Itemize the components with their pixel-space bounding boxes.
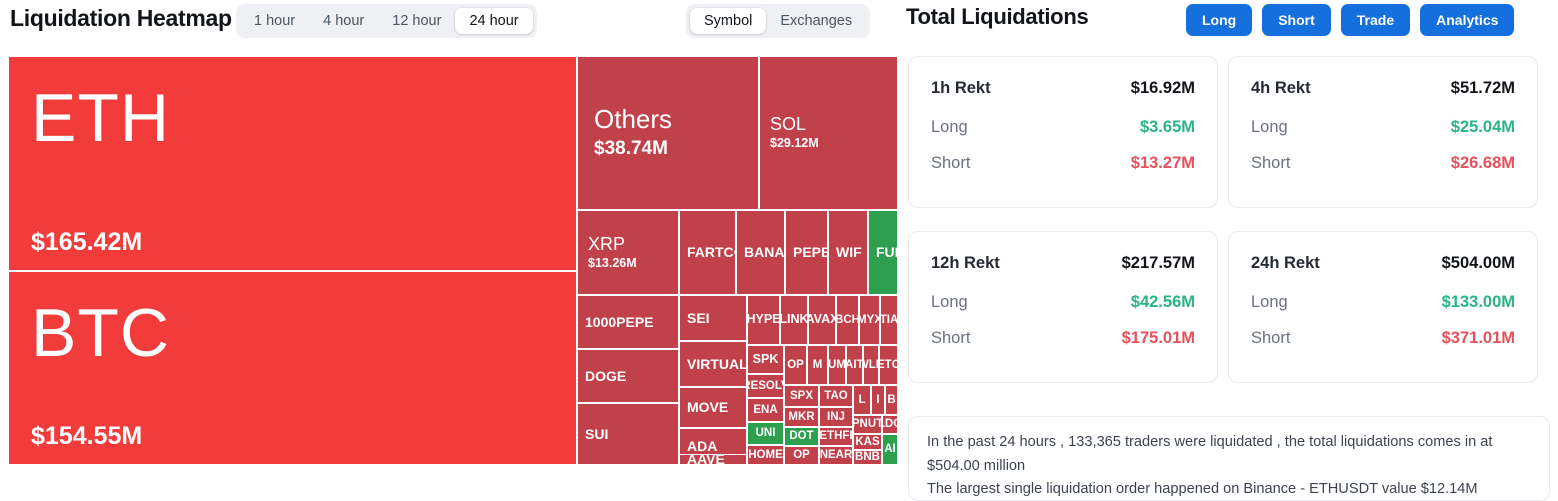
rekt-card-4h: 4h Rekt$51.72MLong$25.04MShort$26.68M	[1228, 56, 1538, 208]
treemap-tile-fartcoin[interactable]: FARTCOIN	[679, 210, 736, 295]
treemap-tile-move[interactable]: MOVE	[679, 387, 747, 428]
treemap-tile-kaito[interactable]: KAITO	[846, 345, 863, 385]
treemap-tile-etc[interactable]: ETC	[879, 345, 898, 385]
treemap-tile-uni[interactable]: UNI	[747, 422, 784, 445]
card-data-row: Short$26.68M	[1251, 154, 1515, 173]
tile-symbol: PUMP	[828, 359, 846, 371]
treemap-tile-bnb[interactable]: BNB	[853, 450, 882, 465]
card-row-label: Short	[931, 329, 970, 348]
card-header-row: 24h Rekt$504.00M	[1251, 254, 1515, 273]
treemap-tile-b[interactable]: B	[885, 385, 898, 415]
treemap-tile-sei[interactable]: SEI	[679, 295, 747, 341]
tile-value: $154.55M	[31, 423, 554, 451]
tile-symbol: SOL	[770, 115, 887, 134]
card-row-value: $26.68M	[1451, 154, 1515, 173]
treemap-tile-others[interactable]: Others$38.74M	[577, 56, 759, 210]
treemap-tile-ldo[interactable]: LDO	[882, 415, 898, 434]
view-toggle-exchanges[interactable]: Exchanges	[766, 8, 866, 34]
treemap-tile-near[interactable]: NEAR	[819, 446, 853, 465]
treemap-tile-xrp[interactable]: XRP$13.26M	[577, 210, 679, 295]
tile-symbol: AAVE	[687, 454, 725, 465]
card-row-value: $371.01M	[1442, 329, 1515, 348]
tile-symbol: WLD	[863, 359, 879, 371]
treemap-tile-1000pepe[interactable]: 1000PEPE	[577, 295, 679, 349]
treemap-tile-bananas31[interactable]: BANANAS31	[736, 210, 785, 295]
tile-value: $29.12M	[770, 137, 887, 151]
tile-symbol: FARTCOIN	[687, 245, 736, 260]
treemap-tile-spk[interactable]: SPK	[747, 345, 784, 374]
treemap-tile-home[interactable]: HOME	[747, 445, 784, 465]
treemap-tile-sui[interactable]: SUI	[577, 403, 679, 465]
tile-symbol: PNUT	[853, 418, 882, 430]
tile-symbol: AVAX	[808, 313, 836, 326]
card-row-label: 12h Rekt	[931, 254, 1000, 273]
tile-symbol: I	[876, 394, 879, 406]
tile-symbol: SEI	[687, 311, 710, 326]
card-row-label: Long	[931, 118, 968, 137]
rekt-card-12h: 12h Rekt$217.57MLong$42.56MShort$175.01M	[908, 231, 1218, 383]
treemap-tile-resolv[interactable]: RESOLV	[747, 374, 784, 398]
tile-symbol: KAS	[855, 436, 879, 448]
tile-symbol: MYX	[859, 314, 880, 326]
tile-symbol: RESOLV	[747, 380, 784, 392]
tile-symbol: BNB	[855, 451, 880, 463]
treemap-tile-bch[interactable]: BCH	[836, 295, 859, 345]
tile-symbol: MOVE	[687, 400, 728, 415]
card-data-row: Short$175.01M	[931, 329, 1195, 348]
tile-symbol: L	[858, 394, 865, 406]
tile-symbol: NEAR	[820, 449, 853, 461]
tile-symbol: MKR	[788, 411, 814, 423]
treemap-tile-op[interactable]: OP	[784, 446, 819, 465]
treemap-tile-pump[interactable]: PUMP	[828, 345, 846, 385]
tile-symbol: TAO	[824, 390, 847, 402]
card-row-value: $504.00M	[1442, 254, 1515, 273]
card-data-row: Long$133.00M	[1251, 293, 1515, 312]
summary-panel: In the past 24 hours , 133,365 traders w…	[908, 416, 1550, 501]
page-title: Liquidation Heatmap	[10, 5, 232, 32]
action-button-short[interactable]: Short	[1262, 4, 1331, 36]
card-row-value: $175.01M	[1122, 329, 1195, 348]
tile-value: $38.74M	[594, 139, 742, 160]
treemap-tile-ena[interactable]: ENA	[747, 398, 784, 422]
treemap-tile-aave[interactable]: AAVE	[679, 454, 747, 465]
view-toggle-symbol[interactable]: Symbol	[690, 8, 766, 34]
tile-symbol: PEPE	[793, 245, 828, 260]
card-row-label: Long	[931, 293, 968, 312]
card-row-label: 1h Rekt	[931, 79, 991, 98]
treemap-tile-wif[interactable]: WIF	[828, 210, 868, 295]
tile-symbol: ETHFI	[819, 430, 852, 442]
action-button-long[interactable]: Long	[1186, 4, 1252, 36]
treemap-tile-fun[interactable]: FUN	[868, 210, 898, 295]
card-row-value: $133.00M	[1442, 293, 1515, 312]
tile-symbol: AI	[884, 443, 896, 455]
tile-symbol: SPX	[790, 390, 813, 402]
treemap-tile-mkr[interactable]: MKR	[784, 407, 819, 427]
card-data-row: Long$3.65M	[931, 118, 1195, 137]
tile-symbol: WIF	[836, 245, 862, 260]
tile-symbol: HYPE	[747, 313, 780, 326]
liquidation-heatmap-page: Liquidation Heatmap 1 hour4 hour12 hour2…	[0, 0, 1558, 501]
tile-symbol: BTC	[31, 298, 554, 369]
tile-symbol: LINK	[780, 313, 808, 326]
card-data-row: Long$42.56M	[931, 293, 1195, 312]
tile-symbol: HOME	[748, 449, 783, 461]
card-row-label: 4h Rekt	[1251, 79, 1311, 98]
app-header: Liquidation Heatmap 1 hour4 hour12 hour2…	[0, 0, 1558, 47]
tile-value: $13.26M	[588, 257, 668, 271]
card-data-row: Short$371.01M	[1251, 329, 1515, 348]
tile-symbol: B	[887, 394, 895, 406]
card-row-label: Short	[1251, 154, 1290, 173]
tile-symbol: OP	[793, 449, 810, 461]
treemap-tile-btc[interactable]: BTC$154.55M	[8, 271, 577, 465]
tile-symbol: ADA	[687, 439, 717, 454]
card-row-label: Short	[1251, 329, 1290, 348]
card-header-row: 12h Rekt$217.57M	[931, 254, 1195, 273]
card-row-value: $13.27M	[1131, 154, 1195, 173]
treemap-tile-virtual[interactable]: VIRTUAL	[679, 341, 747, 387]
tile-symbol: DOT	[789, 430, 813, 442]
treemap-tile-hype[interactable]: HYPE	[747, 295, 780, 345]
treemap-tile-myx[interactable]: MYX	[859, 295, 880, 345]
card-row-value: $217.57M	[1122, 254, 1195, 273]
action-button-analytics[interactable]: Analytics	[1420, 4, 1514, 36]
treemap-tile-wld[interactable]: WLD	[863, 345, 879, 385]
tile-symbol: DOGE	[585, 369, 626, 384]
liquidation-treemap[interactable]: ETH$165.42MBTC$154.55MOthers$38.74MSOL$2…	[8, 56, 898, 465]
card-data-row: Long$25.04M	[1251, 118, 1515, 137]
tile-symbol: BCH	[836, 314, 859, 326]
treemap-tile-pnut[interactable]: PNUT	[853, 415, 882, 434]
rekt-card-24h: 24h Rekt$504.00MLong$133.00MShort$371.01…	[1228, 231, 1538, 383]
tile-symbol: SUI	[585, 427, 608, 442]
tile-symbol: LDO	[882, 418, 898, 430]
card-row-label: Long	[1251, 293, 1288, 312]
treemap-tile-eth[interactable]: ETH$165.42M	[8, 56, 577, 271]
card-row-label: Short	[931, 154, 970, 173]
tile-symbol: VIRTUAL	[687, 357, 747, 372]
treemap-tile-spx[interactable]: SPX	[784, 385, 819, 407]
rekt-card-1h: 1h Rekt$16.92MLong$3.65MShort$13.27M	[908, 56, 1218, 208]
treemap-tile-link[interactable]: LINK	[780, 295, 808, 345]
view-toggle-group[interactable]: SymbolExchanges	[686, 4, 870, 38]
card-row-label: Long	[1251, 118, 1288, 137]
card-header-row: 1h Rekt$16.92M	[931, 79, 1195, 98]
total-liquidations-title: Total Liquidations	[906, 4, 1088, 30]
treemap-tile-kas[interactable]: KAS	[853, 434, 882, 450]
treemap-tile-dot[interactable]: DOT	[784, 427, 819, 446]
treemap-tile-sol[interactable]: SOL$29.12M	[759, 56, 898, 210]
treemap-tile-doge[interactable]: DOGE	[577, 349, 679, 403]
tile-symbol: XRP	[588, 235, 668, 254]
treemap-tile-avax[interactable]: AVAX	[808, 295, 836, 345]
card-row-value: $51.72M	[1451, 79, 1515, 98]
timeframe-tab-12-hour[interactable]: 12 hour	[378, 8, 455, 34]
treemap-tile-l[interactable]: L	[853, 385, 871, 415]
card-row-value: $42.56M	[1131, 293, 1195, 312]
card-row-value: $3.65M	[1140, 118, 1195, 137]
treemap-tile-i[interactable]: I	[871, 385, 885, 415]
treemap-tile-m[interactable]: M	[807, 345, 828, 385]
card-header-row: 4h Rekt$51.72M	[1251, 79, 1515, 98]
treemap-tile-tao[interactable]: TAO	[819, 385, 853, 407]
treemap-tile-inj[interactable]: INJ	[819, 407, 853, 427]
tile-symbol: ETH	[31, 83, 554, 154]
tile-symbol: SPK	[753, 353, 779, 366]
tile-symbol: OP	[787, 359, 804, 371]
tile-symbol: M	[813, 359, 823, 371]
tile-value: $165.42M	[31, 229, 554, 257]
treemap-tile-tia[interactable]: TIA	[880, 295, 898, 345]
tile-symbol: KAITO	[846, 359, 863, 371]
tile-symbol: INJ	[827, 411, 845, 423]
timeframe-tab-1-hour[interactable]: 1 hour	[240, 8, 309, 34]
timeframe-tab-group[interactable]: 1 hour4 hour12 hour24 hour	[236, 4, 537, 38]
treemap-tile-ethfi[interactable]: ETHFI	[819, 427, 853, 446]
summary-line-1: In the past 24 hours , 133,365 traders w…	[927, 431, 1531, 478]
tile-symbol: Others	[594, 106, 742, 133]
treemap-tile-pepe[interactable]: PEPE	[785, 210, 828, 295]
timeframe-tab-4-hour[interactable]: 4 hour	[309, 8, 378, 34]
tile-symbol: FUN	[876, 245, 898, 260]
header-action-buttons[interactable]: LongShortTradeAnalytics	[1186, 4, 1514, 36]
timeframe-tab-24-hour[interactable]: 24 hour	[455, 8, 532, 34]
tile-symbol: ETC	[879, 359, 898, 371]
tile-symbol: 1000PEPE	[585, 315, 654, 330]
tile-symbol: UNI	[756, 427, 776, 439]
treemap-tile-ai[interactable]: AI	[882, 434, 898, 465]
summary-line-2: The largest single liquidation order hap…	[927, 478, 1531, 501]
action-button-trade[interactable]: Trade	[1341, 4, 1410, 36]
treemap-tile-op[interactable]: OP	[784, 345, 807, 385]
card-row-value: $16.92M	[1131, 79, 1195, 98]
card-row-value: $25.04M	[1451, 118, 1515, 137]
tile-symbol: TIA	[880, 314, 898, 326]
card-row-label: 24h Rekt	[1251, 254, 1320, 273]
card-data-row: Short$13.27M	[931, 154, 1195, 173]
tile-symbol: BANANAS31	[744, 245, 785, 260]
tile-symbol: ENA	[753, 404, 777, 416]
